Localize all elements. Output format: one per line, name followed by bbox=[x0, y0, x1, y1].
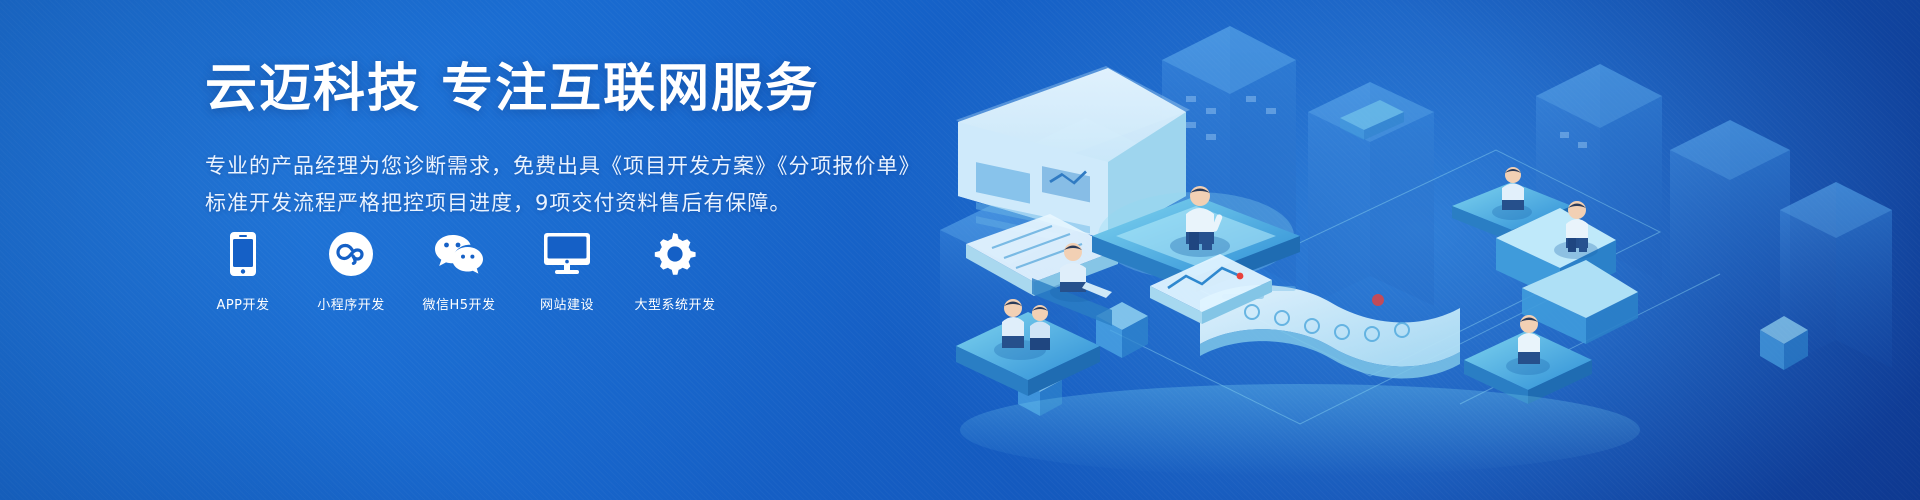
service-label: APP开发 bbox=[216, 294, 269, 313]
service-item-wechat-h5[interactable]: 微信H5开发 bbox=[421, 230, 497, 313]
service-label: 网站建设 bbox=[540, 294, 594, 313]
service-item-website[interactable]: 网站建设 bbox=[529, 230, 605, 313]
hero-banner: 云迈科技 专注互联网服务 专业的产品经理为您诊断需求，免费出具《项目开发方案》《… bbox=[0, 0, 1920, 500]
gear-icon bbox=[653, 230, 697, 278]
hero-subtitle-line-2: 标准开发流程严格把控项目进度，9项交付资料售后有保障。 bbox=[205, 185, 905, 222]
service-item-app[interactable]: APP开发 bbox=[205, 230, 281, 313]
service-item-mini-program[interactable]: 小程序开发 bbox=[313, 230, 389, 313]
service-list: APP开发 小程序开发 bbox=[205, 230, 713, 313]
service-label: 大型系统开发 bbox=[635, 294, 716, 313]
hero-illustration bbox=[900, 0, 1920, 500]
wechat-icon bbox=[434, 230, 484, 278]
mini-program-icon bbox=[329, 230, 373, 278]
page-title: 云迈科技 专注互联网服务 bbox=[205, 60, 905, 120]
hero-copy: 云迈科技 专注互联网服务 专业的产品经理为您诊断需求，免费出具《项目开发方案》《… bbox=[205, 60, 905, 221]
service-item-large-system[interactable]: 大型系统开发 bbox=[637, 230, 713, 313]
service-label: 小程序开发 bbox=[317, 294, 385, 313]
hero-subtitle-line-1: 专业的产品经理为您诊断需求，免费出具《项目开发方案》《分项报价单》 bbox=[205, 148, 905, 185]
monitor-icon bbox=[544, 230, 590, 278]
service-label: 微信H5开发 bbox=[422, 294, 495, 313]
mobile-phone-icon bbox=[230, 230, 256, 278]
